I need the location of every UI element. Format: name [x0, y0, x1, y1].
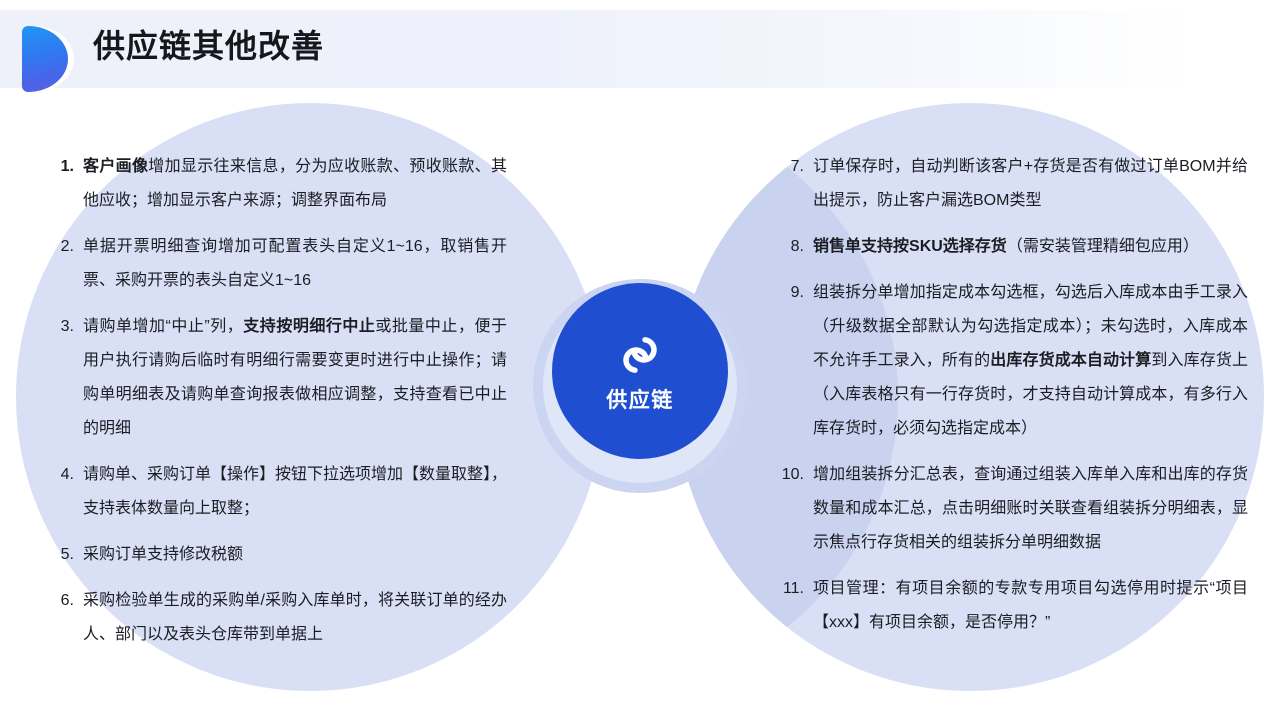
list-item-text: 采购检验单生成的采购单/采购入库单时，将关联订单的经办人、部门以及表头仓库带到单…	[83, 584, 507, 652]
list-item-text: 组装拆分单增加指定成本勾选框，勾选后入库成本由手工录入（升级数据全部默认为勾选指…	[813, 276, 1248, 446]
chain-link-icon	[613, 328, 667, 382]
page-title: 供应链其他改善	[93, 26, 324, 66]
list-item-text: 销售单支持按SKU选择存货（需安装管理精细包应用）	[813, 230, 1248, 264]
body-text: 增加组装拆分汇总表，查询通过组装入库单入库和出库的存货数量和成本汇总，点击明细账…	[813, 466, 1248, 551]
body-text: 请购单、采购订单【操作】按钮下拉选项增加【数量取整】，支持表体数量向上取整；	[83, 466, 507, 517]
list-item-number: 11.	[778, 572, 813, 606]
right-items-column: 7.订单保存时，自动判断该客户+存货是否有做过订单BOM并给出提示，防止客户漏选…	[778, 150, 1248, 652]
list-item-number: 5.	[52, 538, 83, 572]
list-item: 4.请购单、采购订单【操作】按钮下拉选项增加【数量取整】，支持表体数量向上取整；	[52, 458, 507, 526]
emphasis-text: 支持按明细行中止	[243, 318, 375, 335]
list-item-number: 1.	[52, 150, 83, 184]
left-items-column: 1.客户画像增加显示往来信息，分为应收账款、预收账款、其他应收；增加显示客户来源…	[52, 150, 507, 664]
body-text: 单据开票明细查询增加可配置表头自定义1~16，取销售开票、采购开票的表头自定义1…	[83, 238, 507, 289]
list-item-number: 9.	[778, 276, 813, 310]
center-badge[interactable]: 供应链	[552, 283, 728, 459]
emphasis-text: 出库存货成本自动计算	[990, 352, 1151, 369]
list-item-text: 订单保存时，自动判断该客户+存货是否有做过订单BOM并给出提示，防止客户漏选BO…	[813, 150, 1248, 218]
list-item: 3.请购单增加“中止”列，支持按明细行中止或批量中止，便于用户执行请购后临时有明…	[52, 310, 507, 446]
emphasis-text: 客户画像	[83, 158, 148, 175]
list-item: 2.单据开票明细查询增加可配置表头自定义1~16，取销售开票、采购开票的表头自定…	[52, 230, 507, 298]
body-text: 请购单增加“中止”列，	[83, 318, 243, 335]
list-item-number: 2.	[52, 230, 83, 264]
emphasis-text: 支持按SKU选择存货	[861, 238, 1007, 255]
list-item-number: 3.	[52, 310, 83, 344]
list-item-number: 8.	[778, 230, 813, 264]
list-item: 1.客户画像增加显示往来信息，分为应收账款、预收账款、其他应收；增加显示客户来源…	[52, 150, 507, 218]
list-item-text: 请购单、采购订单【操作】按钮下拉选项增加【数量取整】，支持表体数量向上取整；	[83, 458, 507, 526]
body-text: 或批量中止，便于用户执行请购后临时有明细行需要变更时进行中止操作；请购单明细表及…	[83, 318, 507, 437]
body-text: 订单保存时，自动判断该客户+存货是否有做过订单BOM并给出提示，防止客户漏选BO…	[813, 158, 1248, 209]
list-item-text: 采购订单支持修改税额	[83, 538, 507, 572]
list-item-text: 增加组装拆分汇总表，查询通过组装入库单入库和出库的存货数量和成本汇总，点击明细账…	[813, 458, 1248, 560]
list-item: 10.增加组装拆分汇总表，查询通过组装入库单入库和出库的存货数量和成本汇总，点击…	[778, 458, 1248, 560]
list-item: 7.订单保存时，自动判断该客户+存货是否有做过订单BOM并给出提示，防止客户漏选…	[778, 150, 1248, 218]
list-item-text: 请购单增加“中止”列，支持按明细行中止或批量中止，便于用户执行请购后临时有明细行…	[83, 310, 507, 446]
list-item-text: 项目管理：有项目余额的专款专用项目勾选停用时提示“项目【xxx】有项目余额，是否…	[813, 572, 1248, 640]
list-item-text: 客户画像增加显示往来信息，分为应收账款、预收账款、其他应收；增加显示客户来源；调…	[83, 150, 507, 218]
body-text: 项目管理：有项目余额的专款专用项目勾选停用时提示“项目【xxx】有项目余额，是否…	[813, 580, 1248, 631]
list-item: 5.采购订单支持修改税额	[52, 538, 507, 572]
body-text: 采购订单支持修改税额	[83, 546, 243, 563]
list-item: 8.销售单支持按SKU选择存货（需安装管理精细包应用）	[778, 230, 1248, 264]
slide-canvas: 供应链其他改善 供应链 1.客户画像增加显示往来信息，分为应收账款、预收账款、其…	[0, 0, 1280, 720]
emphasis-text: 销售单	[813, 238, 861, 255]
list-item: 6.采购检验单生成的采购单/采购入库单时，将关联订单的经办人、部门以及表头仓库带…	[52, 584, 507, 652]
list-item: 11.项目管理：有项目余额的专款专用项目勾选停用时提示“项目【xxx】有项目余额…	[778, 572, 1248, 640]
body-text: （需安装管理精细包应用）	[1007, 238, 1199, 255]
center-badge-label: 供应链	[606, 388, 674, 414]
list-item: 9.组装拆分单增加指定成本勾选框，勾选后入库成本由手工录入（升级数据全部默认为勾…	[778, 276, 1248, 446]
list-item-number: 4.	[52, 458, 83, 492]
header-accent-shape	[22, 26, 68, 92]
list-item-text: 单据开票明细查询增加可配置表头自定义1~16，取销售开票、采购开票的表头自定义1…	[83, 230, 507, 298]
list-item-number: 10.	[778, 458, 813, 492]
list-item-number: 7.	[778, 150, 813, 184]
body-text: 采购检验单生成的采购单/采购入库单时，将关联订单的经办人、部门以及表头仓库带到单…	[83, 592, 507, 643]
list-item-number: 6.	[52, 584, 83, 618]
